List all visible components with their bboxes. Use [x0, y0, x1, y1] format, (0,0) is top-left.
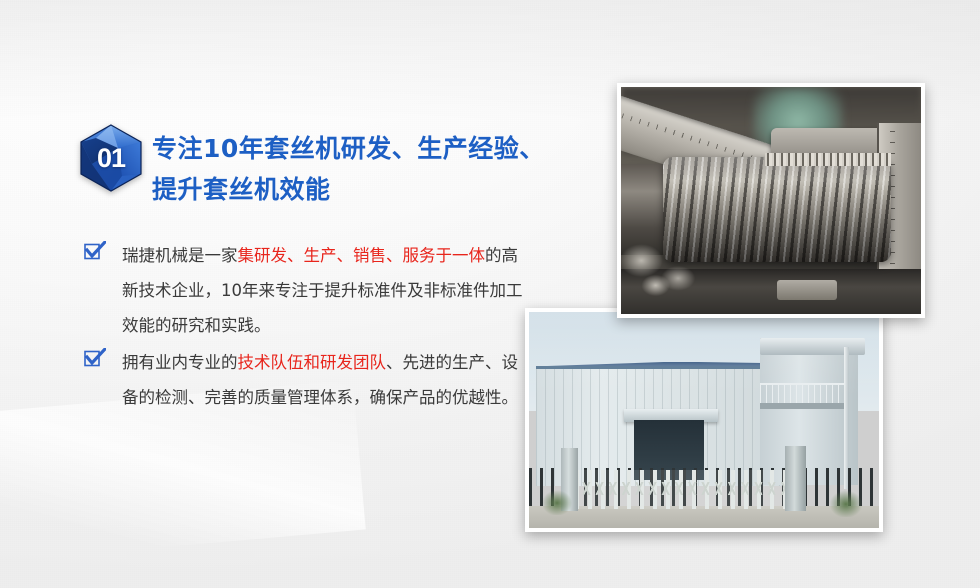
promo-banner: 01 专注10年套丝机研发、生产经验、 提升套丝机效能 瑞捷机械是一家集研发、生… [0, 0, 980, 588]
list-item-text: 瑞捷机械是一家集研发、生产、销售、服务于一体的高新技术企业，10年来专注于提升标… [122, 238, 524, 343]
factory-building-photo [525, 308, 883, 532]
page-title: 专注10年套丝机研发、生产经验、 提升套丝机效能 [152, 128, 552, 210]
checkbox-checked-icon [84, 348, 106, 368]
list-item: 拥有业内专业的技术队伍和研发团队、先进的生产、设备的检测、完善的质量管理体系，确… [84, 345, 524, 415]
page-title-line1: 专注10年套丝机研发、生产经验、 [152, 134, 545, 163]
badge-number-label: 01 [78, 124, 144, 194]
factory-scene [529, 312, 879, 528]
list-item: 瑞捷机械是一家集研发、生产、销售、服务于一体的高新技术企业，10年来专注于提升标… [84, 238, 524, 343]
machine-scene [621, 87, 921, 314]
thread-rolling-machine-photo [617, 83, 925, 318]
page-title-line2: 提升套丝机效能 [152, 169, 552, 210]
section-number-badge: 01 [78, 124, 144, 192]
content-column: 01 专注10年套丝机研发、生产经验、 提升套丝机效能 瑞捷机械是一家集研发、生… [0, 0, 560, 588]
bullet1-seg1: 瑞捷机械是一家 [122, 246, 238, 265]
bullet2-seg1: 拥有业内专业的 [122, 353, 238, 372]
bullet1-seg2-highlight: 集研发、生产、销售、服务于一体 [238, 246, 486, 265]
bullet2-seg2-highlight: 技术队伍和研发团队 [238, 353, 387, 372]
list-item-text: 拥有业内专业的技术队伍和研发团队、先进的生产、设备的检测、完善的质量管理体系，确… [122, 345, 524, 415]
checkbox-checked-icon [84, 241, 106, 261]
